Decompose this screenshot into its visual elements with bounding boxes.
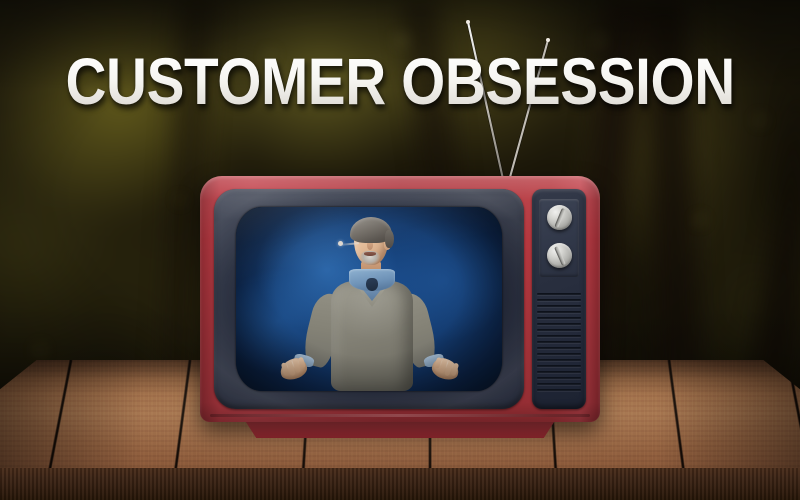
speaker-grille bbox=[537, 293, 581, 401]
tv-screen[interactable] bbox=[236, 207, 502, 391]
knob-slot-icon bbox=[554, 246, 566, 266]
screen-glass-reflection bbox=[236, 207, 502, 391]
knob-slot-icon bbox=[554, 207, 565, 227]
table-front-edge bbox=[0, 468, 800, 500]
table-edge-grain bbox=[0, 468, 800, 500]
tv-control-panel bbox=[532, 189, 586, 409]
scene-canvas: CUSTOMER OBSESSION bbox=[0, 0, 800, 500]
knob-recess-panel bbox=[539, 199, 579, 277]
retro-television[interactable] bbox=[200, 176, 600, 422]
tv-body-bottom-highlight bbox=[210, 414, 590, 417]
tuning-knob[interactable] bbox=[547, 243, 572, 268]
tv-body bbox=[200, 176, 600, 422]
channel-knob[interactable] bbox=[547, 205, 572, 230]
tv-bezel bbox=[214, 189, 524, 409]
